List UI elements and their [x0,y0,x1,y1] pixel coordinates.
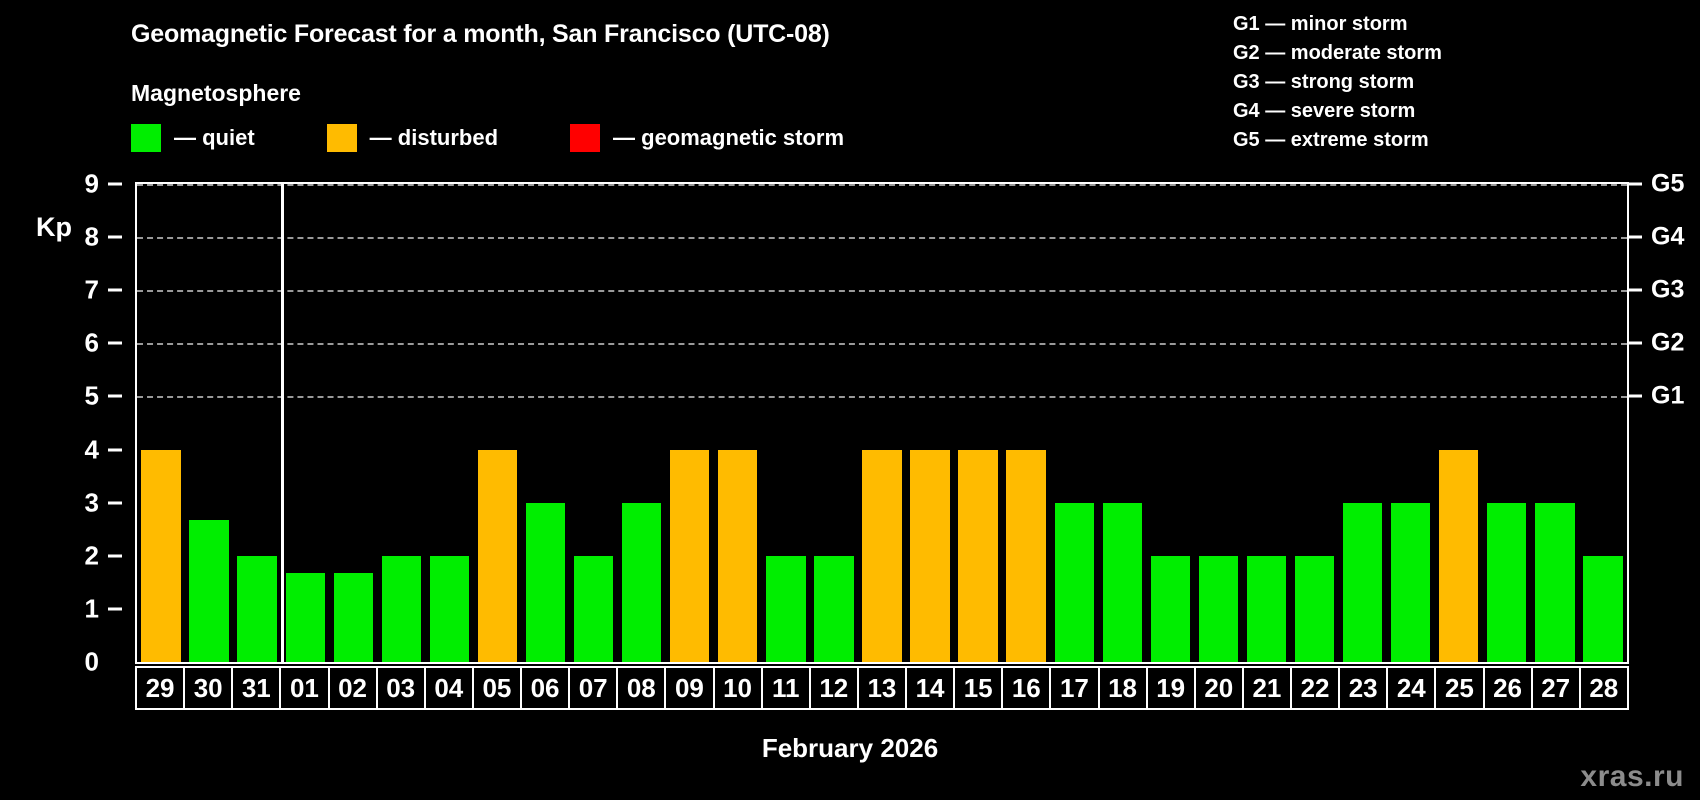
date-cell[interactable]: 06 [522,668,570,708]
bar-slot[interactable] [858,184,906,662]
kp-bar[interactable] [141,450,180,662]
kp-bar[interactable] [622,503,661,662]
g-scale-row: G1 — minor storm [1233,10,1442,39]
forecast-divider [281,184,284,662]
bar-slot[interactable] [185,184,233,662]
kp-tick-label: 0 [85,647,99,678]
kp-tick-mark [108,501,122,504]
kp-bar[interactable] [574,556,613,662]
legend-label-storm: — geomagnetic storm [613,125,844,151]
plot-area [135,182,1629,664]
kp-bar[interactable] [1583,556,1622,662]
date-cell[interactable]: 19 [1148,668,1196,708]
bar-slot[interactable] [906,184,954,662]
bar-slot[interactable] [666,184,714,662]
kp-bar[interactable] [1006,450,1045,662]
bar-slot[interactable] [1531,184,1579,662]
bar-slot[interactable] [1435,184,1483,662]
legend-item-disturbed: — disturbed [327,123,498,153]
kp-bar[interactable] [670,450,709,662]
kp-bar[interactable] [1487,503,1526,662]
date-cell[interactable]: 12 [811,668,859,708]
kp-tick-label: 9 [85,169,99,200]
date-cell[interactable]: 02 [330,668,378,708]
kp-tick-mark [108,289,122,292]
legend-item-quiet: — quiet [131,123,255,153]
bar-slot[interactable] [1483,184,1531,662]
g-scale-row: G4 — severe storm [1233,97,1442,126]
kp-bar[interactable] [1439,450,1478,662]
g-scale-tick-label: G1 [1651,382,1684,411]
date-cell[interactable]: 20 [1196,668,1244,708]
kp-axis-title: Kp [36,212,72,243]
g-scale-tick-label: G2 [1651,329,1684,358]
month-label: February 2026 [0,733,1700,764]
date-cell[interactable]: 21 [1244,668,1292,708]
date-cell[interactable]: 28 [1581,668,1627,708]
date-cell[interactable]: 26 [1485,668,1533,708]
g-scale-row: G2 — moderate storm [1233,39,1442,68]
kp-bar[interactable] [1535,503,1574,662]
date-cell[interactable]: 13 [859,668,907,708]
date-cell[interactable]: 14 [907,668,955,708]
watermark: xras.ru [1580,760,1684,794]
g-scale-row: G3 — strong storm [1233,68,1442,97]
bar-slot[interactable] [522,184,570,662]
date-cell[interactable]: 22 [1292,668,1340,708]
g-scale-tick-mark [1629,395,1642,398]
kp-bar[interactable] [526,503,565,662]
kp-bar[interactable] [958,450,997,662]
date-cell[interactable]: 03 [378,668,426,708]
date-cell[interactable]: 16 [1003,668,1051,708]
date-cell[interactable]: 11 [763,668,811,708]
g-scale-tick-mark [1629,236,1642,239]
bar-slot[interactable] [954,184,1002,662]
bar-slot[interactable] [1387,184,1435,662]
kp-bar[interactable] [1391,503,1430,662]
bar-slot[interactable] [1050,184,1098,662]
bar-slot[interactable] [762,184,810,662]
g-scale-axis: G1G2G3G4G5 [1629,182,1700,664]
bar-slot[interactable] [473,184,521,662]
bar-slot[interactable] [425,184,473,662]
bar-slot[interactable] [1194,184,1242,662]
bar-slot[interactable] [618,184,666,662]
legend-swatch-storm-icon [570,124,600,152]
kp-bar[interactable] [286,573,325,662]
kp-bar[interactable] [1247,556,1286,662]
kp-bar[interactable] [1343,503,1382,662]
g-scale-tick-label: G3 [1651,276,1684,305]
g-scale-key: G1 — minor storm G2 — moderate storm G3 … [1233,10,1442,155]
kp-tick-mark [108,342,122,345]
date-cell[interactable]: 08 [618,668,666,708]
kp-bar[interactable] [237,556,276,662]
kp-bar[interactable] [814,556,853,662]
kp-bar[interactable] [718,450,757,662]
date-cell[interactable]: 25 [1436,668,1484,708]
kp-tick-label: 8 [85,222,99,253]
date-cell[interactable]: 07 [570,668,618,708]
g-scale-tick-mark [1629,289,1642,292]
kp-tick-label: 1 [85,593,99,624]
page-title: Geomagnetic Forecast for a month, San Fr… [131,20,830,49]
magnetosphere-heading: Magnetosphere [131,80,301,107]
kp-tick-label: 5 [85,381,99,412]
kp-tick-label: 6 [85,328,99,359]
date-cell[interactable]: 05 [474,668,522,708]
kp-tick-label: 2 [85,540,99,571]
kp-bar[interactable] [766,556,805,662]
bar-slot[interactable] [1242,184,1290,662]
bar-slot[interactable] [1579,184,1627,662]
kp-bar[interactable] [334,573,373,662]
kp-axis: 0123456789 [0,182,135,664]
legend-item-storm: — geomagnetic storm [570,123,844,153]
bar-slot[interactable] [137,184,185,662]
kp-tick-label: 4 [85,434,99,465]
date-cell[interactable]: 17 [1051,668,1099,708]
g-scale-tick-mark [1629,342,1642,345]
bar-slot[interactable] [810,184,858,662]
bar-slot[interactable] [1339,184,1387,662]
date-cell[interactable]: 09 [666,668,714,708]
kp-bar[interactable] [1295,556,1334,662]
bar-slot[interactable] [233,184,281,662]
g-scale-tick-mark [1629,183,1642,186]
date-cell[interactable]: 04 [426,668,474,708]
g-scale-row: G5 — extreme storm [1233,126,1442,155]
date-cell[interactable]: 01 [281,668,329,708]
kp-tick-mark [108,554,122,557]
kp-bar[interactable] [1055,503,1094,662]
date-axis: 2930310102030405060708091011121314151617… [135,666,1629,710]
bar-slot[interactable] [570,184,618,662]
bar-slot[interactable] [1291,184,1339,662]
legend-swatch-disturbed-icon [327,124,357,152]
kp-tick-mark [108,183,122,186]
kp-bar[interactable] [430,556,469,662]
bar-slot[interactable] [714,184,762,662]
date-cell[interactable]: 10 [715,668,763,708]
date-cell[interactable]: 31 [233,668,281,708]
kp-bar[interactable] [862,450,901,662]
date-cell[interactable]: 27 [1533,668,1581,708]
legend-swatch-quiet-icon [131,124,161,152]
g-scale-tick-label: G4 [1651,223,1684,252]
date-cell[interactable]: 24 [1388,668,1436,708]
legend-label-quiet: — quiet [174,125,255,151]
kp-tick-label: 3 [85,487,99,518]
bar-slot[interactable] [1146,184,1194,662]
date-cell[interactable]: 29 [137,668,185,708]
kp-bar[interactable] [382,556,421,662]
kp-tick-mark [108,236,122,239]
bar-slot[interactable] [377,184,425,662]
g-scale-tick-label: G5 [1651,170,1684,199]
kp-bar[interactable] [478,450,517,662]
kp-tick-mark [108,448,122,451]
date-cell[interactable]: 23 [1340,668,1388,708]
legend-label-disturbed: — disturbed [370,125,498,151]
magnetosphere-legend: — quiet — disturbed — geomagnetic storm [131,123,844,153]
kp-bar[interactable] [189,520,228,662]
kp-bar[interactable] [1151,556,1190,662]
date-cell[interactable]: 30 [185,668,233,708]
kp-tick-label: 7 [85,275,99,306]
kp-bar[interactable] [1199,556,1238,662]
date-cell[interactable]: 15 [955,668,1003,708]
bar-series [137,184,1627,662]
kp-bar[interactable] [1103,503,1142,662]
kp-tick-mark [108,395,122,398]
bar-slot[interactable] [281,184,329,662]
bar-slot[interactable] [1002,184,1050,662]
date-cell[interactable]: 18 [1100,668,1148,708]
kp-bar[interactable] [910,450,949,662]
bar-slot[interactable] [1098,184,1146,662]
bar-slot[interactable] [329,184,377,662]
kp-tick-mark [108,607,122,610]
